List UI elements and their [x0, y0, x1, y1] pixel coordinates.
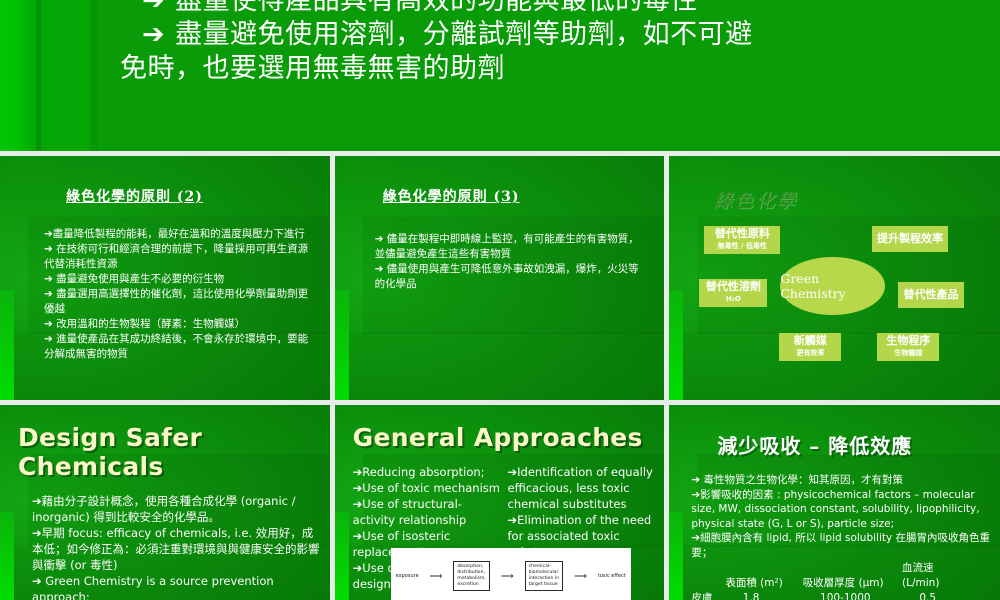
list-item: ➔ 在技術可行和經濟合理的前提下，降量採用可再生資源代替消耗性資源: [44, 242, 314, 272]
slide-overview-stage: ➔盡量使得產品具有高效的功能與最低的毒性 ➔盡量避免使用溶劑，分離試劑等助劑，如…: [0, 0, 1000, 600]
diagram-node-interaction: chemical- biomolecular interaction in ta…: [525, 561, 564, 592]
node-alternative-feedstock[interactable]: 替代性原料 無毒性 / 低毒性: [704, 226, 780, 254]
slide-general-approaches[interactable]: General Approaches ➔Reducing absorption;…: [335, 405, 665, 600]
bullet-list: ➔ 儘量在製程中即時線上監控，有可能產生的有害物質，並儘量避免產生這些有害物質 …: [357, 232, 649, 292]
node-sublabel: H₂O: [703, 293, 763, 305]
diagram-node-toxic-effect: toxic effect: [598, 573, 626, 580]
slide-row-2: Design Safer Chemicals ➔藉由分子設計概念，使用各種合成化…: [0, 405, 1000, 600]
node-label: 新觸媒: [783, 335, 837, 347]
list-item: ➔盡量降低製程的能耗，最好在溫和的溫度與壓力下進行: [44, 227, 314, 242]
node-label: 提升製程效率: [876, 233, 944, 245]
list-item: ➔影響吸收的因素 : physicochemical factors – mol…: [691, 488, 992, 532]
list-item: ➔ 盡量選用高選擇性的催化劑，這比使用化學劑量助劑更優越: [44, 287, 314, 317]
bullet-list: ➔ 毒性物質之生物化學：知其原因，才有對策 ➔影響吸收的因素 : physico…: [683, 473, 992, 560]
node-label: 替代性溶劑: [703, 281, 763, 293]
list-item: ➔ 毒性物質之生物化學：知其原因，才有對策: [691, 473, 992, 488]
node-process-efficiency[interactable]: 提升製程效率: [872, 226, 948, 252]
column-header: 吸收層厚度 (µm): [803, 576, 899, 591]
bullet-list: ➔盡量降低製程的能耗，最好在溫和的溫度與壓力下進行 ➔ 在技術可行和經濟合理的前…: [22, 227, 314, 362]
slide-row-1: 綠色化學的原則 (2) ➔盡量降低製程的能耗，最好在溫和的溫度與壓力下進行 ➔ …: [0, 156, 1000, 400]
top-slide-line-1: ➔盡量使得產品具有高效的功能與最低的毒性: [120, 0, 1000, 18]
node-alternative-product[interactable]: 替代性產品: [898, 282, 964, 308]
cell: 皮膚: [691, 591, 739, 600]
bullet-list: ➔藉由分子設計概念，使用各種合成化學 (organic / inorganic)…: [18, 493, 320, 600]
slide-green-chemistry-map[interactable]: 綠色化學 替代性原料 無毒性 / 低毒性 提升製程效率 替代性溶劑 H₂O 替代…: [669, 156, 1000, 400]
node-label: 替代性原料: [708, 228, 776, 240]
slide-design-safer-chemicals[interactable]: Design Safer Chemicals ➔藉由分子設計概念，使用各種合成化…: [0, 405, 330, 600]
list-item: ➔早期 focus: efficacy of chemicals, i.e. 效…: [32, 525, 320, 573]
slide-lower-shade: [349, 332, 665, 400]
slide-bright-edge: [335, 290, 349, 400]
cell: 0.5: [919, 591, 979, 600]
arrow-icon: ➔: [142, 0, 175, 16]
list-item: ➔Use of structural-activity relationship: [353, 496, 502, 528]
list-item: ➔Identification of equally efficacious, …: [508, 464, 657, 512]
page-title: Design Safer Chemicals: [18, 423, 320, 481]
table-row: 皮膚 1.8 100-1000 0.5: [691, 591, 992, 600]
left-accent-band-bright: [0, 0, 36, 151]
list-item: ➔ 改用溫和的生物製程（酵素：生物觸媒）: [44, 317, 314, 332]
list-item: ➔ 儘量在製程中即時線上監控，有可能產生的有害物質，並儘量避免產生這些有害物質: [375, 232, 649, 262]
page-title: 減少吸收 – 降低效應: [717, 430, 992, 459]
top-slide-line-3: 免時，也要選用無毒無害的助劑: [120, 52, 1000, 86]
node-alternative-solvent[interactable]: 替代性溶劑 H₂O: [699, 279, 767, 307]
slide-bright-edge: [669, 290, 683, 400]
node-sublabel: 生物觸媒: [881, 347, 935, 359]
diagram-node-adme: absorption, distribution, metabolism, ex…: [453, 561, 490, 592]
list-item: ➔ 儘量使用與產生可降低意外事故如洩漏，爆炸，火災等的化學品: [375, 262, 649, 292]
list-item: ➔藉由分子設計概念，使用各種合成化學 (organic / inorganic)…: [32, 493, 320, 525]
list-item: ➔細胞膜內含有 lipid, 所以 lipid solubility 在腸胃內吸…: [691, 531, 992, 560]
list-item: ➔Reducing absorption;: [353, 464, 502, 480]
center-label: Green Chemistry: [780, 271, 885, 301]
node-bioprocess[interactable]: 生物程序 生物觸媒: [877, 333, 939, 361]
slide-principles-3[interactable]: 綠色化學的原則 (3) ➔ 儘量在製程中即時線上監控，有可能產生的有害物質，並儘…: [335, 156, 665, 400]
node-new-catalyst[interactable]: 新觸媒 更有效率: [779, 333, 841, 361]
node-sublabel: 無毒性 / 低毒性: [708, 240, 776, 252]
node-sublabel: 更有效率: [783, 347, 837, 359]
page-title: General Approaches: [353, 423, 657, 452]
list-item: ➔ 盡量避免使用與產生不必要的衍生物: [44, 272, 314, 287]
node-green-chemistry-center[interactable]: Green Chemistry: [780, 257, 885, 315]
page-title: 綠色化學的原則 (3): [383, 186, 649, 206]
list-item: ➔Use of toxic mechanism: [353, 480, 502, 496]
page-title: 綠色化學的原則 (2): [66, 186, 314, 206]
arrow-icon: ⟶: [429, 572, 444, 581]
left-accent-band-thin: [90, 0, 98, 151]
arrow-icon: ⟶: [573, 572, 588, 581]
left-accent-band-mid: [41, 0, 90, 151]
top-slide-line-2: ➔盡量避免使用溶劑，分離試劑等助劑，如不可避: [120, 18, 1000, 52]
column-header: 表面積 (m²): [725, 576, 799, 591]
node-label: 替代性產品: [902, 289, 960, 301]
node-label: 生物程序: [881, 335, 935, 347]
arrow-icon: ⟶: [500, 572, 515, 581]
slide-lower-shade: [683, 332, 1000, 400]
list-item: ➔ Green Chemistry is a source prevention…: [32, 573, 320, 600]
toxicity-pathway-diagram: exposure ⟶ absorption, distribution, met…: [391, 548, 631, 600]
page-title: 綠色化學: [713, 186, 1000, 213]
cell: 100-1000: [820, 591, 916, 600]
arrow-icon: ➔: [142, 19, 175, 50]
absorption-table: 表面積 (m²) 吸收層厚度 (µm) 血流速 (L/min) 皮膚 1.8 1…: [683, 561, 992, 600]
diagram-node-exposure: exposure: [396, 573, 419, 580]
slide-reduce-absorption[interactable]: 減少吸收 – 降低效應 ➔ 毒性物質之生物化學：知其原因，才有對策 ➔影響吸收的…: [669, 405, 1000, 600]
top-partial-slide[interactable]: ➔盡量使得產品具有高效的功能與最低的毒性 ➔盡量避免使用溶劑，分離試劑等助劑，如…: [0, 0, 1000, 151]
column-header: 血流速 (L/min): [902, 561, 962, 591]
table-header-row: 表面積 (m²) 吸收層厚度 (µm) 血流速 (L/min): [691, 561, 992, 591]
cell: 1.8: [743, 591, 817, 600]
top-slide-text: ➔盡量使得產品具有高效的功能與最低的毒性 ➔盡量避免使用溶劑，分離試劑等助劑，如…: [120, 0, 1000, 86]
list-item: ➔ 進量使產品在其成功終結後，不會永存於環境中，要能分解成無害的物質: [44, 332, 314, 362]
slide-principles-2[interactable]: 綠色化學的原則 (2) ➔盡量降低製程的能耗，最好在溫和的溫度與壓力下進行 ➔ …: [0, 156, 330, 400]
